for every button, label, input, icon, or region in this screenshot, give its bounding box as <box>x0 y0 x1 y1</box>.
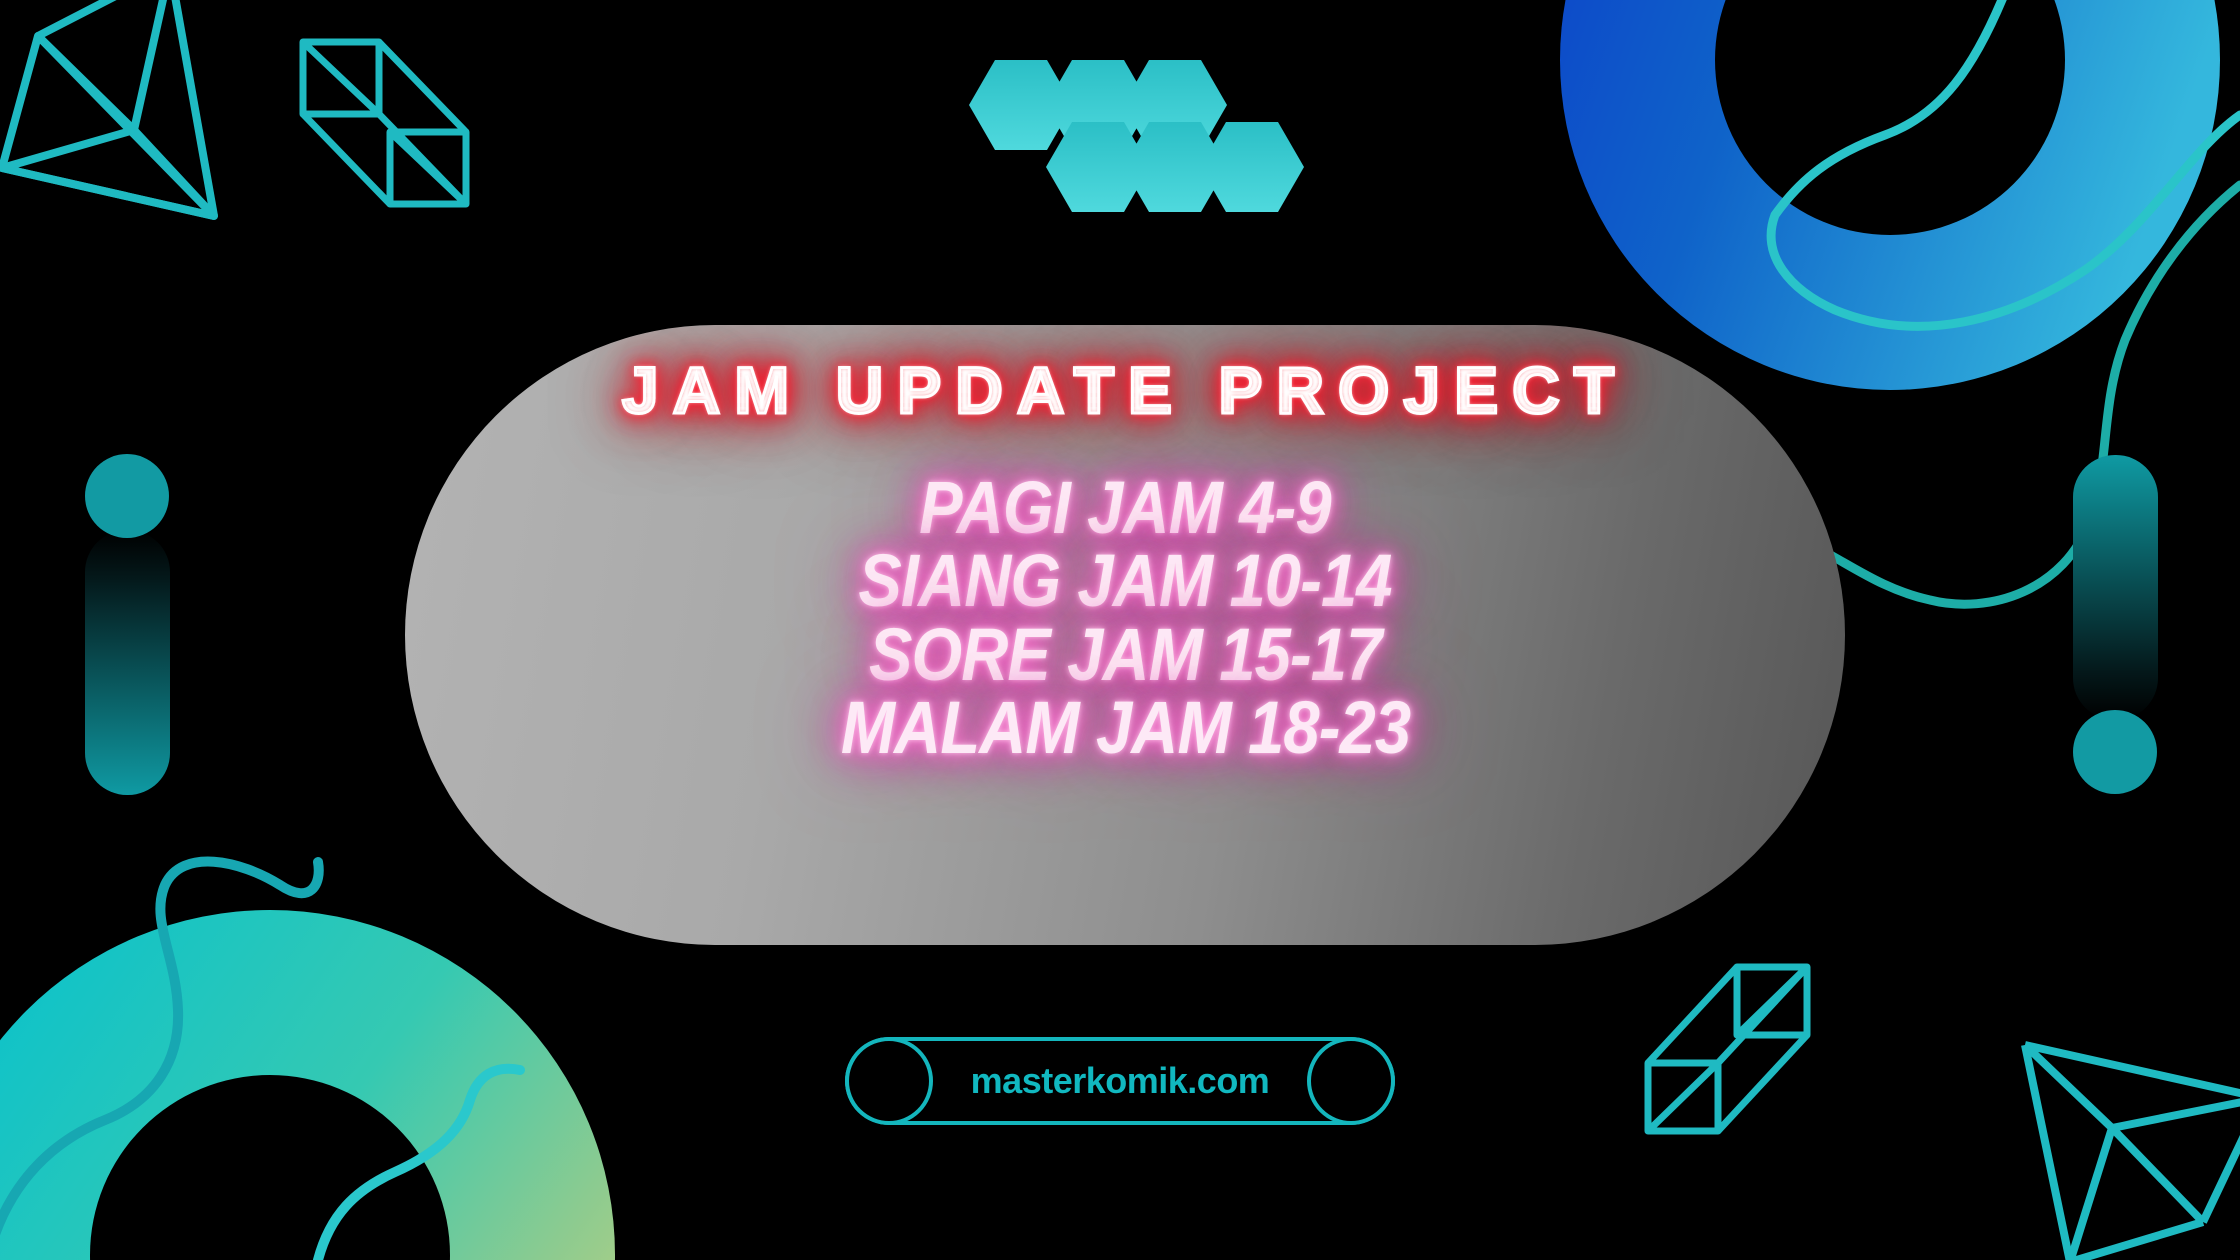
hexagon-cluster-top <box>969 60 1304 212</box>
wireframe-prism-top-left <box>303 42 466 204</box>
schedule-list: PAGI JAM 4-9 SIANG JAM 10-14 SORE JAM 15… <box>802 471 1449 764</box>
circle-left <box>85 454 169 538</box>
wireframe-pyramid-bottom-right <box>2025 1045 2240 1260</box>
gradient-ring-bottom-left <box>0 905 620 1260</box>
pill-left <box>85 530 170 795</box>
badge-cap-right-icon <box>1307 1037 1395 1125</box>
badge-cap-left-icon <box>845 1037 933 1125</box>
website-badge[interactable]: masterkomik.com <box>845 1037 1395 1125</box>
schedule-item-malam: MALAM JAM 18-23 <box>840 691 1409 764</box>
wavy-line-bottom-left <box>0 862 319 1250</box>
wireframe-prism-bottom-right <box>1648 967 1807 1131</box>
circle-right <box>2073 710 2157 794</box>
schedule-item-siang: SIANG JAM 10-14 <box>858 544 1391 617</box>
pill-right <box>2073 455 2158 720</box>
poster-canvas: JAM UPDATE PROJECT JAM UPDATE PROJECT PA… <box>0 0 2240 1260</box>
wavy-line-top-right <box>1771 0 2240 326</box>
wavy-line-top-right-lower <box>1800 185 2240 604</box>
schedule-item-sore: SORE JAM 15-17 <box>869 618 1381 691</box>
wavy-line-bottom-left-inner <box>318 1069 520 1260</box>
page-title: JAM UPDATE PROJECT <box>622 357 1628 423</box>
website-url-text: masterkomik.com <box>971 1060 1270 1102</box>
wireframe-pyramid-top-left <box>2 0 214 216</box>
main-card: JAM UPDATE PROJECT JAM UPDATE PROJECT PA… <box>405 325 1845 945</box>
schedule-item-pagi: PAGI JAM 4-9 <box>919 471 1331 544</box>
